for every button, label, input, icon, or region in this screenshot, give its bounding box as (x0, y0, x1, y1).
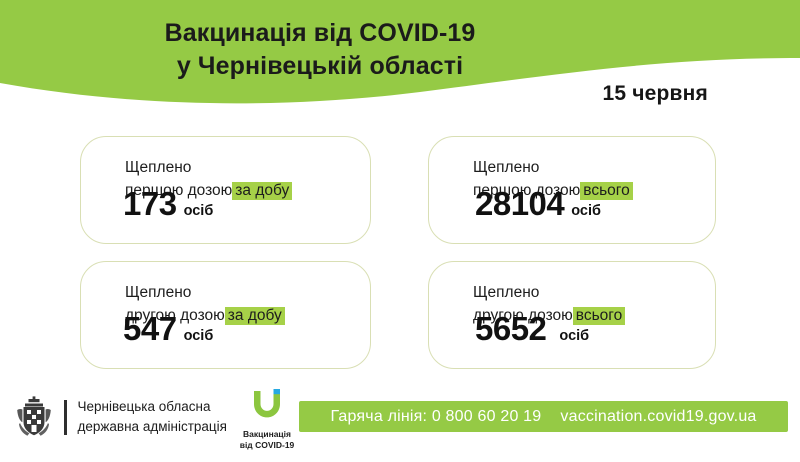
stat-card-second-dose-daily: Щеплено другою дозоюза добу 547 осіб (80, 261, 371, 369)
stat-card-value-row: 28104 осіб (475, 185, 601, 223)
stat-card-unit: осіб (184, 203, 214, 219)
stat-card-line2-highlight: за добу (225, 307, 285, 325)
stat-card-unit: осіб (571, 203, 601, 219)
stat-card-first-dose-total: Щеплено першою дозоювсього 28104 осіб (428, 136, 716, 244)
stat-card-line1: Щеплено (473, 156, 633, 179)
hotline-banner: Гаряча лінія: 0 800 60 20 19 vaccination… (299, 401, 788, 432)
vaccination-logo-block: Вакцинація від COVID-19 (234, 389, 300, 450)
stat-card-value: 5652 (475, 310, 546, 348)
stat-card-line2-highlight: за добу (232, 182, 292, 200)
website-link[interactable]: vaccination.covid19.gov.ua (560, 408, 756, 426)
oblast-administration-block: Чернівецька обласна державна адміністрац… (14, 396, 227, 438)
date-label: 15 червня (602, 82, 708, 106)
stat-card-value-row: 5652 осіб (475, 310, 589, 348)
stat-card-value: 173 (123, 185, 177, 223)
stat-card-line1: Щеплено (125, 281, 285, 304)
stat-card-first-dose-daily: Щеплено першою дозоюза добу 173 осіб (80, 136, 371, 244)
footer-divider (64, 400, 67, 435)
stat-card-second-dose-total: Щеплено другою дозоювсього 5652 осіб (428, 261, 716, 369)
stat-card-value: 547 (123, 310, 177, 348)
stat-card-value: 28104 (475, 185, 564, 223)
coat-of-arms-icon (14, 396, 54, 438)
stat-card-value-row: 173 осіб (123, 185, 213, 223)
poster: Вакцинація від COVID-19 у Чернівецькій о… (0, 0, 800, 462)
stat-card-line1: Щеплено (473, 281, 625, 304)
stat-card-line1: Щеплено (125, 156, 292, 179)
page-title: Вакцинація від COVID-19 у Чернівецькій о… (0, 17, 640, 83)
vaccination-v-logo-icon (234, 389, 300, 423)
hotline-label: Гаряча лінія: 0 800 60 20 19 (330, 408, 541, 426)
oblast-administration-label: Чернівецька обласна державна адміністрац… (78, 397, 227, 438)
stat-card-unit: осіб (184, 328, 214, 344)
stat-card-unit: осіб (559, 328, 589, 344)
vaccination-logo-caption: Вакцинація від COVID-19 (234, 429, 300, 450)
stat-card-value-row: 547 осіб (123, 310, 213, 348)
